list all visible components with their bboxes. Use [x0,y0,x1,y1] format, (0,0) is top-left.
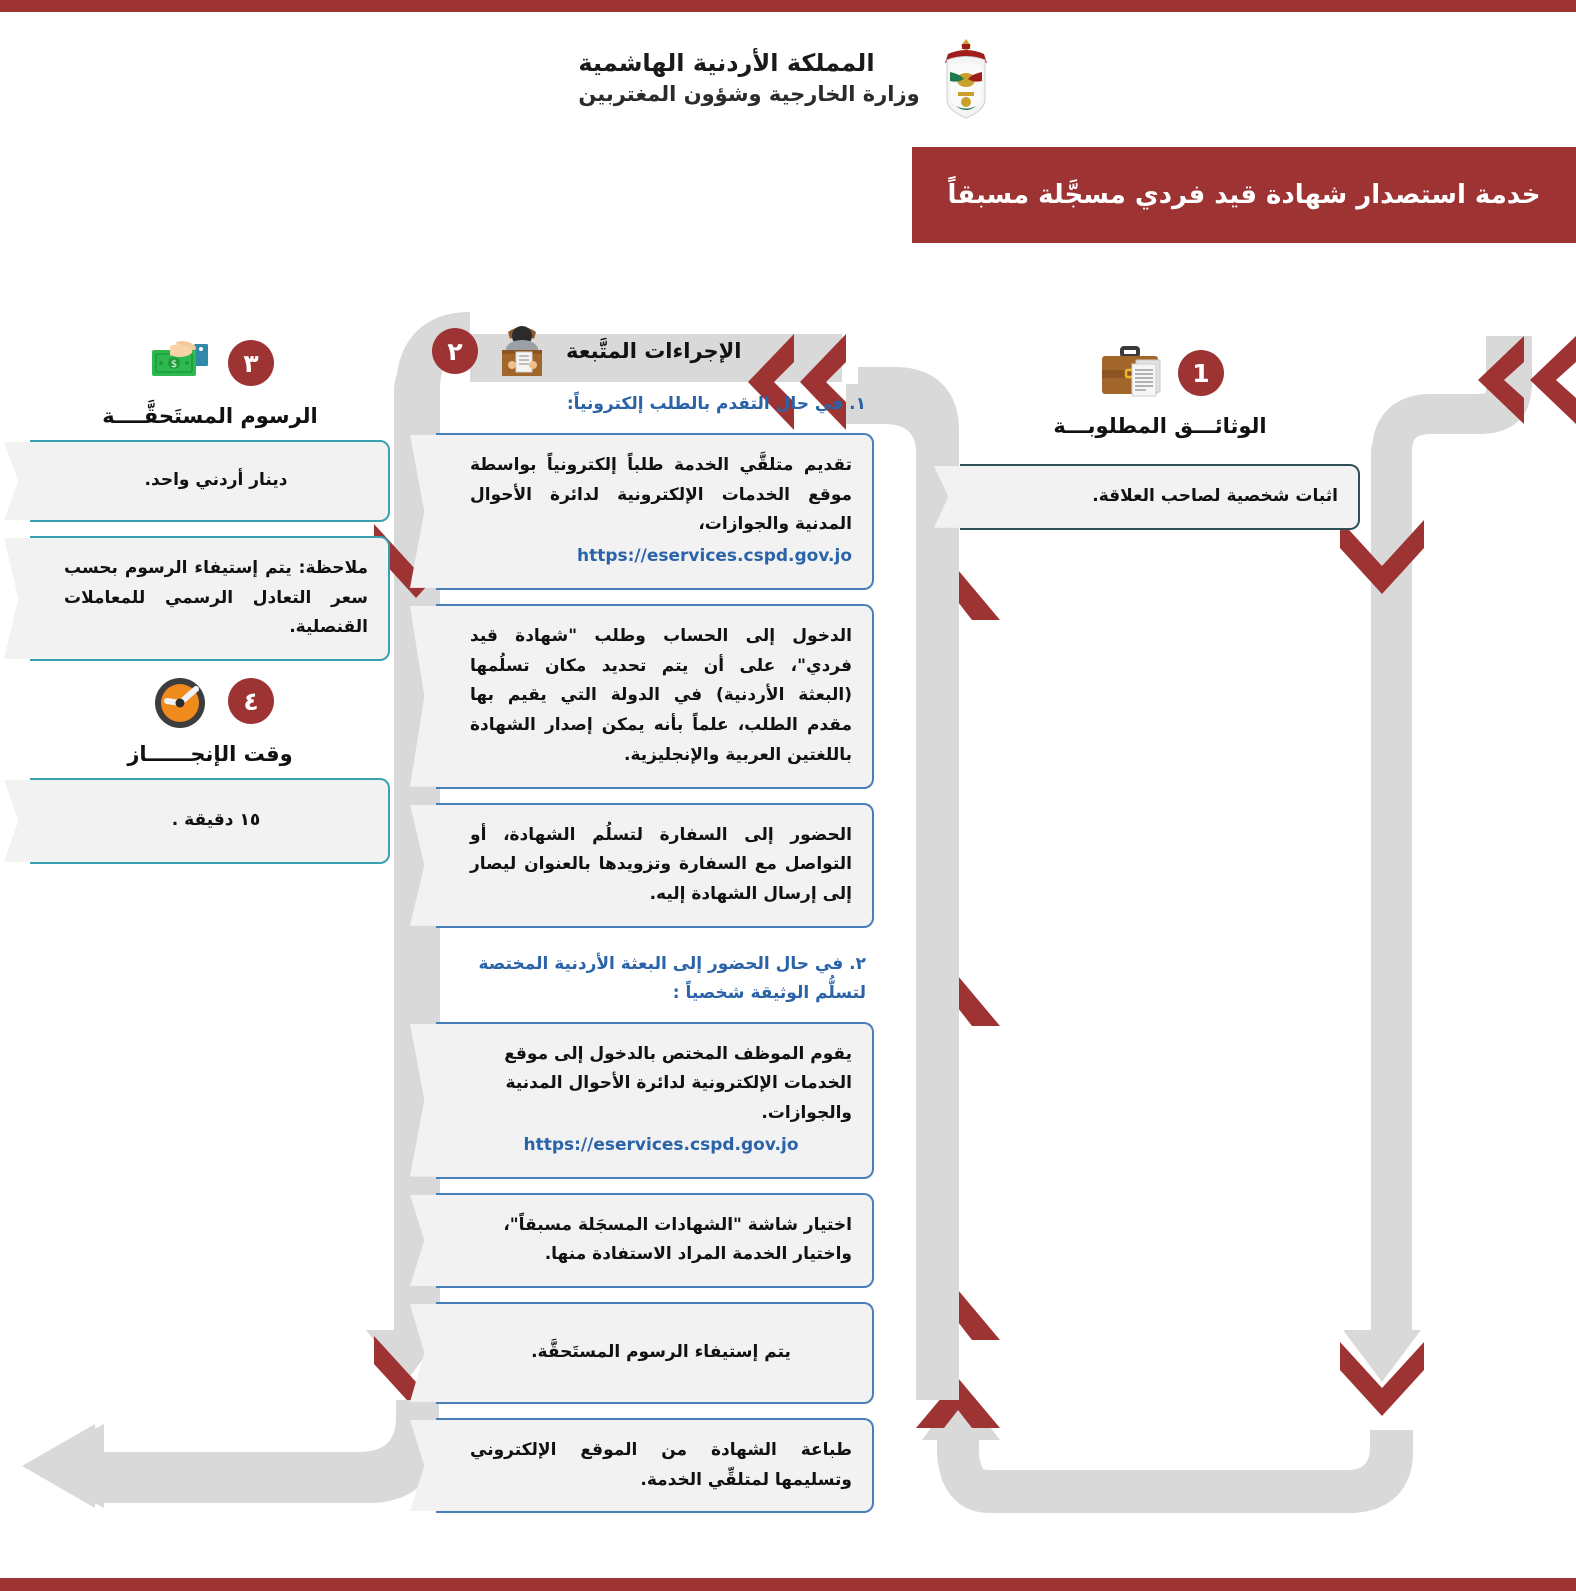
documents-step-badge: 1 [1178,350,1224,396]
section-completion-time: ٤ وقت الإنجــــــاز ١٥ دقيقة . [30,668,390,878]
document-item: اثبات شخصية لصاحب العلاقة. [960,464,1360,530]
procedures-step-badge: ٢ [432,328,478,374]
procedure-step-text: يقوم الموظف المختص بالدخول إلى موقع الخد… [504,1044,852,1124]
briefcase-documents-icon [1096,342,1168,404]
section-required-documents: 1 الوثائـــق المطلوبـــة اثبا [960,340,1360,544]
procedure-step: يقوم الموظف المختص بالدخول إلى موقع الخد… [436,1022,874,1179]
jordan-coat-of-arms-icon [934,36,998,120]
completion-time-value: ١٥ دقيقة . [30,778,390,864]
procedure-step-text: تقديم متلقَّي الخدمة طلباً إلكترونياً بو… [470,455,852,535]
completion-time-step-badge: ٤ [228,678,274,724]
procedures-title: الإجراءات المتَّبعة [566,339,741,363]
eservices-url[interactable]: https://eservices.cspd.gov.jo [470,542,852,572]
cash-in-hand-icon: $ [146,332,218,394]
procedures-subheading-online: ١. في حال التقدم بالطلب إلكترونياً: [436,390,874,419]
fees-title: الرسوم المستَحقَّــــة [102,404,317,428]
procedure-step: تقديم متلقَّي الخدمة طلباً إلكترونياً بو… [436,433,874,590]
section-fees: ٣ $ الرسوم المستَحقَّــــة دينار أردني و… [30,330,390,675]
service-title-text: خدمة استصدار شهادة قيد فردي مسجَّلة مسبق… [947,180,1540,210]
service-title-banner: خدمة استصدار شهادة قيد فردي مسجَّلة مسبق… [912,147,1576,243]
svg-text:$: $ [171,359,177,370]
fees-step-badge: ٣ [228,340,274,386]
documents-list: اثبات شخصية لصاحب العلاقة. [960,464,1360,530]
procedures-body: ١. في حال التقدم بالطلب إلكترونياً: تقدي… [432,390,888,1513]
clock-icon [146,670,218,732]
eservices-url[interactable]: https://eservices.cspd.gov.jo [470,1131,852,1161]
section-procedures: ٢ الإجراءات المتَّبعة ١. في حال التقدم ب… [432,316,888,1527]
procedures-heading: ٢ الإجراءات المتَّبعة [432,316,888,386]
completion-time-list: ١٥ دقيقة . [30,778,390,864]
procedure-step: الدخول إلى الحساب وطلب "شهادة قيد فردي"،… [436,604,874,789]
fee-amount: دينار أردني واحد. [30,440,390,522]
kingdom-title: المملكة الأردنية الهاشمية [578,47,919,79]
bottom-accent-bar [0,1578,1576,1591]
ministry-title: وزارة الخارجية وشؤون المغتربين [578,80,919,108]
procedure-step: اختيار شاشة "الشهادات المسجَلة مسبقاً"، … [436,1193,874,1289]
documents-title: الوثائـــق المطلوبـــة [1053,414,1266,438]
fee-note: ملاحظة: يتم إستيفاء الرسوم بحسب سعر التع… [30,536,390,661]
clerk-at-desk-icon [486,320,558,382]
completion-time-title: وقت الإنجــــــاز [127,742,292,766]
top-accent-bar [0,0,1576,12]
procedure-step: يتم إستيفاء الرسوم المستَحقَّة. [436,1302,874,1404]
masthead: المملكة الأردنية الهاشمية وزارة الخارجية… [0,30,1576,125]
procedures-subheading-inperson: ٢. في حال الحضور إلى البعثة الأردنية الم… [436,950,874,1008]
fees-heading: ٣ $ الرسوم المستَحقَّــــة [30,330,390,428]
completion-time-heading: ٤ وقت الإنجــــــاز [30,668,390,766]
documents-heading: 1 الوثائـــق المطلوبـــة [960,340,1360,438]
procedure-step: الحضور إلى السفارة لتسلُم الشهادة، أو ال… [436,803,874,928]
procedure-step: طباعة الشهادة من الموقع الإلكتروني وتسلي… [436,1418,874,1514]
fees-list: دينار أردني واحد. ملاحظة: يتم إستيفاء ال… [30,440,390,661]
